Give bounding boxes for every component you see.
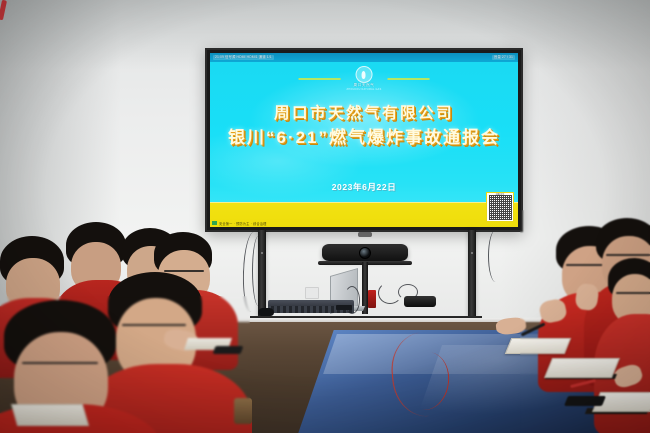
cable-loop: [344, 286, 360, 314]
slide-date: 2023年6月22日: [210, 181, 518, 193]
qr-code: 扫码关注: [486, 192, 514, 222]
wall-outlet: [305, 287, 319, 299]
wall-display[interactable]: 21:09 信号源 HDMI HDMI1 通道 1/1 音量 27 / 31 周…: [205, 48, 523, 232]
papers-left: [11, 404, 89, 426]
slide-title-block: 周口市天然气有限公司 银川“6·21”燃气爆炸事故通报会: [210, 105, 518, 148]
wooden-cup: [234, 398, 252, 424]
logo-company-subtitle: ZHOUKOU NATURAL GAS: [347, 89, 382, 91]
slide-title-line-1: 周口市天然气有限公司: [210, 105, 518, 122]
mobile-phone: [564, 396, 606, 406]
gas-flame-icon: [355, 66, 372, 83]
power-indicator-box: [368, 290, 376, 308]
coiled-cable-2: [398, 284, 418, 300]
logo-mark: 周口天然气 ZHOUKOU NATURAL GAS: [347, 66, 382, 91]
meeting-room-photo: 21:09 信号源 HDMI HDMI1 通道 1/1 音量 27 / 31 周…: [0, 0, 650, 433]
qr-pattern: [489, 195, 512, 220]
slide-footer-note: 安全第一 · 预防为主 · 综合治理: [219, 223, 267, 226]
slide-logo: 周口天然气 ZHOUKOU NATURAL GAS: [299, 66, 430, 91]
computer-mouse: [258, 308, 274, 316]
camera-lens-icon: [359, 247, 371, 259]
osd-volume-text: 音量 27 / 31: [492, 55, 515, 60]
display-stand-leg-right: [468, 230, 476, 318]
display-osd-bar: 21:09 信号源 HDMI HDMI1 通道 1/1 音量 27 / 31: [210, 53, 518, 62]
notebook-2: [544, 358, 620, 378]
slide-title-line-2: 银川“6·21”燃气爆炸事故通报会: [210, 129, 518, 148]
band-marker: [212, 221, 217, 225]
logo-rule-left: [299, 78, 341, 80]
display-screen: 21:09 信号源 HDMI HDMI1 通道 1/1 音量 27 / 31 周…: [210, 53, 518, 227]
device-left: [213, 346, 244, 354]
slide-footer-band: 安全第一 · 预防为主 · 综合治理: [210, 202, 518, 227]
notebook-1: [505, 338, 571, 354]
cable-strand-2: [252, 236, 265, 306]
camera-mount-cap: [358, 232, 372, 237]
cable-strand-3: [488, 230, 503, 282]
video-conference-camera: [322, 244, 408, 261]
logo-rule-right: [387, 78, 429, 80]
osd-source-text: 21:09 信号源 HDMI HDMI1 通道 1/1: [213, 55, 274, 60]
